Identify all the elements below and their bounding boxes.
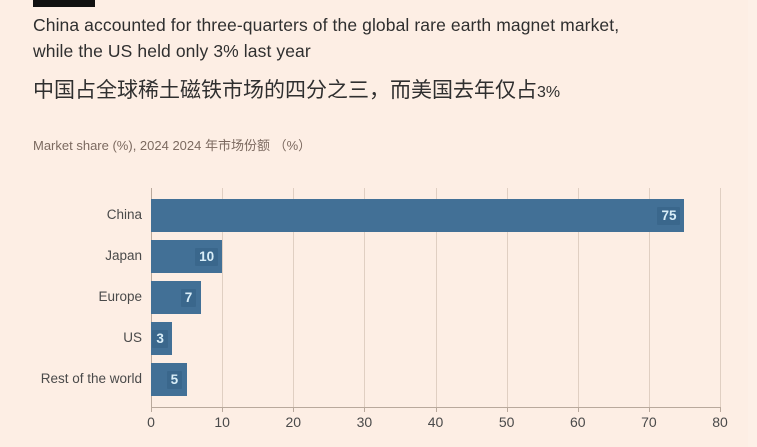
value-label-rest-of-the-world: 5 [167,371,183,389]
x-tick-label-70: 70 [641,414,657,430]
chart-subtitle: Market share (%), 2024 2024 年市场份额 （%） [33,137,311,155]
x-tick-label-80: 80 [712,414,728,430]
headline-chinese: 中国占全球稀土磁铁市场的四分之三，而美国去年仅占3% [33,76,733,108]
chart-canvas: China accounted for three-quarters of th… [0,0,757,447]
headline-chinese-tail: 3% [537,84,560,101]
x-tick-20 [293,407,294,412]
x-tick-label-10: 10 [214,414,230,430]
value-label-japan: 10 [195,248,218,266]
gridline-80 [720,188,721,407]
x-tick-label-20: 20 [285,414,301,430]
x-tick-label-0: 0 [147,414,155,430]
publisher-logo-crop [33,0,95,7]
x-tick-50 [507,407,508,412]
x-tick-40 [436,407,437,412]
headline-english: China accounted for three-quarters of th… [33,12,733,64]
value-label-china: 75 [657,207,680,225]
category-label-rest-of-the-world: Rest of the world [22,371,142,386]
bar-china[interactable] [151,199,684,232]
bar-chart: China75Japan10Europe7US3Rest of the worl… [0,168,757,447]
x-tick-0 [151,407,152,412]
x-tick-label-40: 40 [428,414,444,430]
category-label-china: China [22,207,142,222]
x-tick-30 [364,407,365,412]
x-tick-60 [578,407,579,412]
headline-line-2: while the US held only 3% last year [33,38,733,64]
category-label-japan: Japan [22,248,142,263]
x-tick-label-50: 50 [499,414,515,430]
headline-chinese-main: 中国占全球稀土磁铁市场的四分之三，而美国去年仅占 [33,79,537,102]
headline-line-1: China accounted for three-quarters of th… [33,12,733,38]
x-tick-10 [222,407,223,412]
category-label-us: US [22,330,142,345]
x-tick-label-60: 60 [570,414,586,430]
x-tick-70 [649,407,650,412]
value-label-us: 3 [152,330,168,348]
value-label-europe: 7 [181,289,197,307]
x-tick-80 [720,407,721,412]
category-label-europe: Europe [22,289,142,304]
x-tick-label-30: 30 [357,414,373,430]
